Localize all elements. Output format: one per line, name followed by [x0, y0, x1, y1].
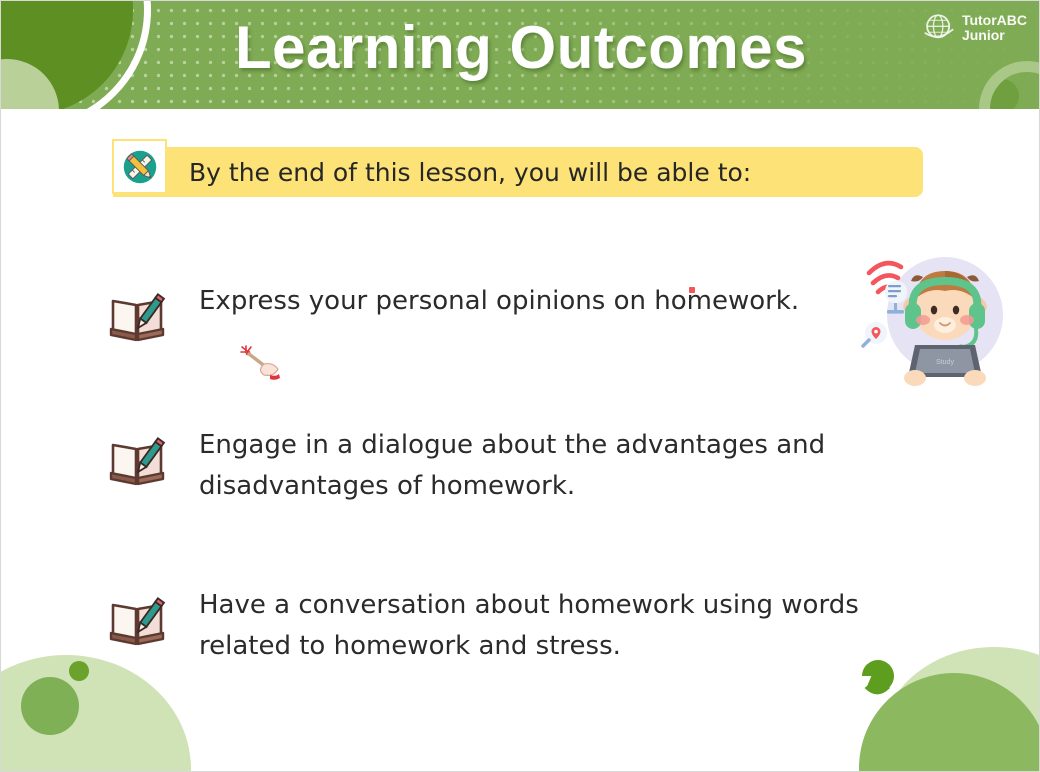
list-item: Engage in a dialogue about the advantage… [109, 425, 899, 507]
open-book-pencil-icon [109, 433, 171, 491]
page-title: Learning Outcomes [1, 13, 1040, 82]
outcome-text: Express your personal opinions on homewo… [199, 281, 799, 322]
globe-icon [922, 11, 956, 45]
brand-logo-line1: TutorABC [962, 12, 1027, 28]
magic-wand-cursor [239, 343, 285, 381]
lesson-objective-text: By the end of this lesson, you will be a… [189, 158, 751, 187]
svg-text:Study: Study [936, 359, 954, 366]
bottom-left-small-circle-decor [69, 661, 89, 681]
list-item: Express your personal opinions on homewo… [109, 281, 899, 347]
slide-canvas: Learning Outcomes TutorABC Junior [0, 0, 1040, 772]
brand-logo-line2: Junior [962, 27, 1005, 43]
list-item: Have a conversation about homework using… [109, 585, 899, 667]
outcome-text: Have a conversation about homework using… [199, 585, 879, 667]
outcome-text: Engage in a dialogue about the advantage… [199, 425, 879, 507]
open-book-pencil-icon [109, 289, 171, 347]
pencil-ruler-circle-icon [112, 139, 167, 194]
open-book-pencil-icon [109, 593, 171, 651]
cow-student-headset-laptop-illustration: Study [849, 237, 1007, 389]
brand-logo: TutorABC Junior [922, 11, 1027, 45]
brand-logo-text: TutorABC Junior [962, 13, 1027, 43]
lesson-objective-banner: By the end of this lesson, you will be a… [113, 147, 923, 197]
bottom-left-large-circle-decor [21, 677, 79, 735]
learning-outcomes-list: Express your personal opinions on homewo… [109, 281, 899, 745]
leaf-icon [859, 657, 897, 695]
slide-header: Learning Outcomes TutorABC Junior [1, 1, 1040, 109]
red-marker-dot [689, 287, 695, 293]
